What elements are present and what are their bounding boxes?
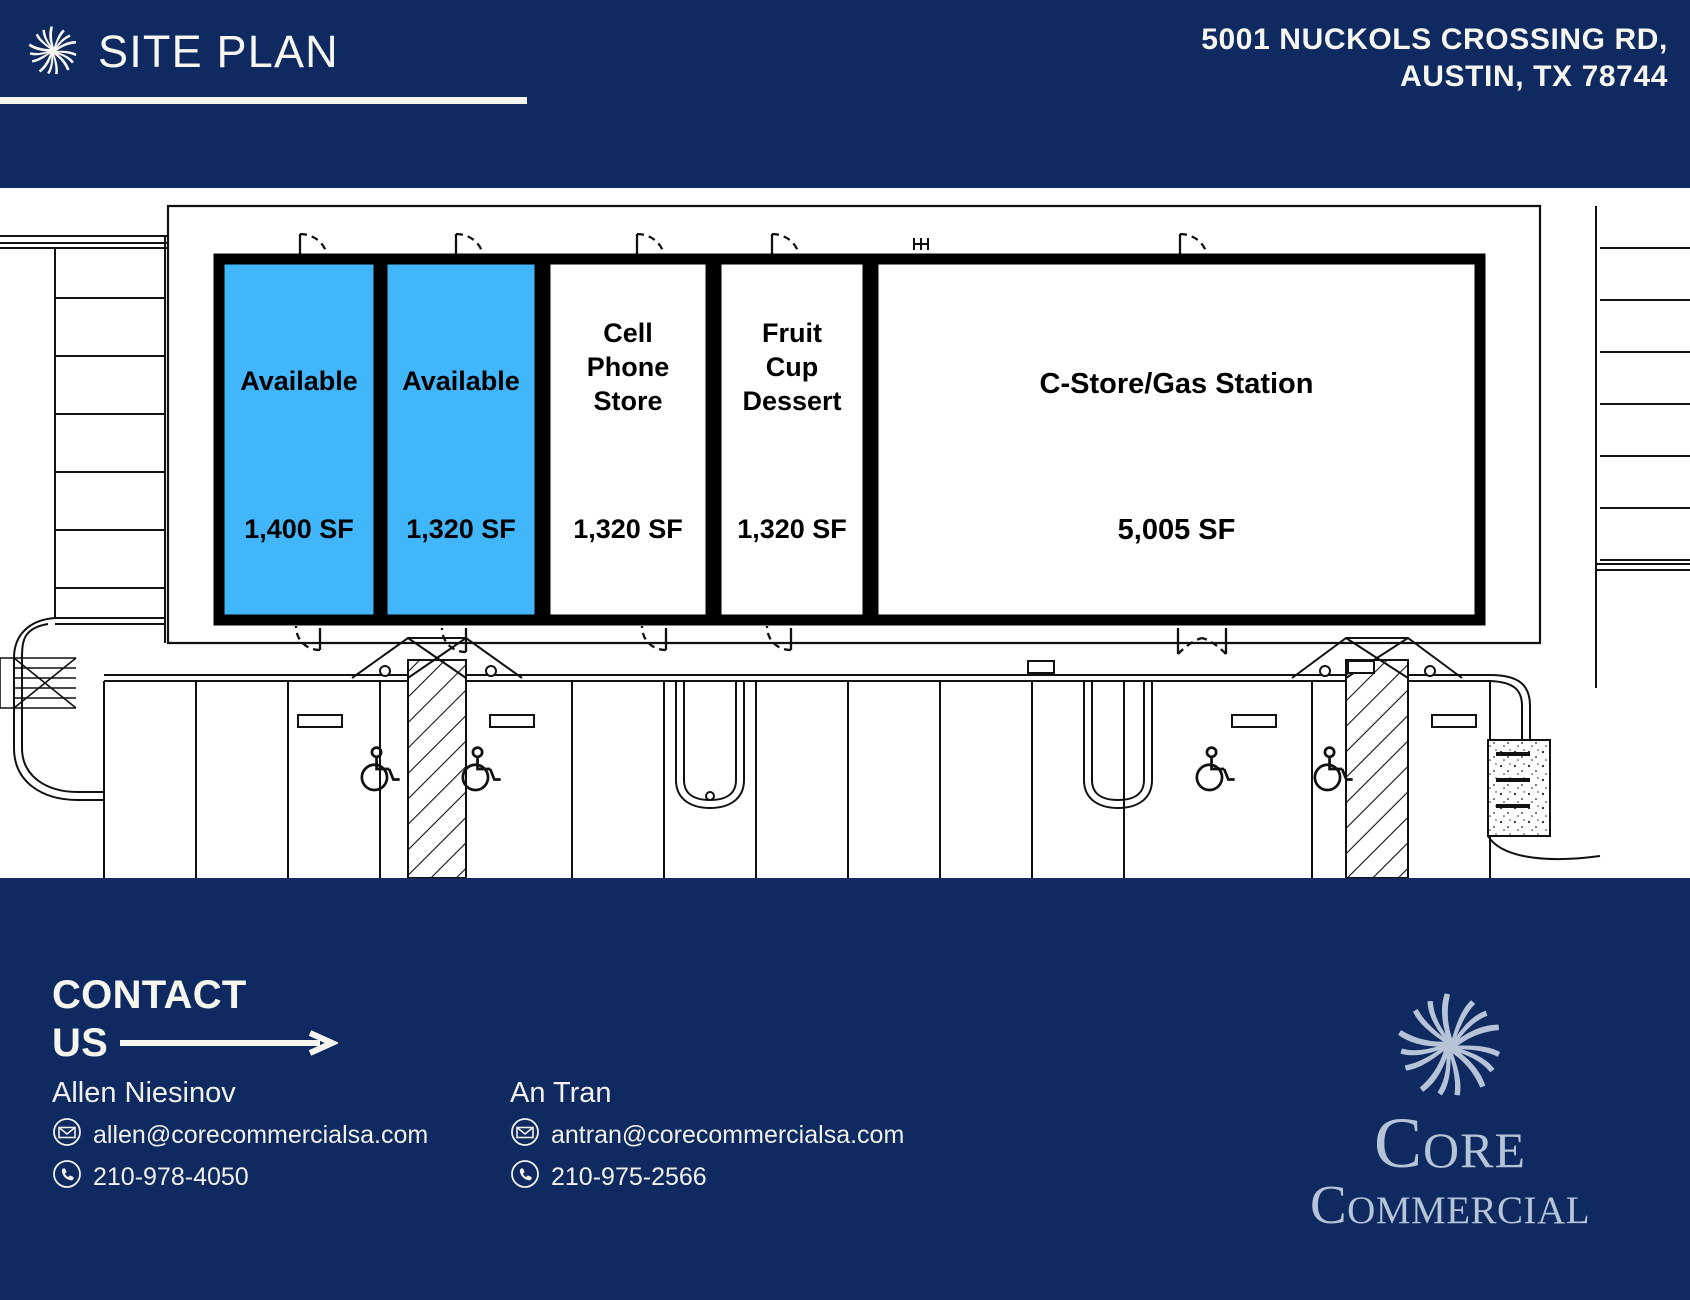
unit-rect-c-store-gas-station[interactable] — [873, 259, 1480, 620]
core-commercial-brand: Core Commercial — [1240, 980, 1660, 1232]
door-swing-arc — [642, 626, 666, 650]
door-swing-arc — [1178, 628, 1226, 654]
stall-marking — [298, 715, 342, 727]
gravel-pad — [1488, 740, 1600, 859]
sign-marking — [1348, 661, 1374, 673]
address-line-1: 5001 NUCKOLS CROSSING RD, — [1201, 22, 1668, 59]
header-underline — [0, 97, 527, 104]
header-brand: SITE PLAN — [22, 20, 339, 82]
right-arrow-icon — [120, 1023, 338, 1063]
tenant-units — [219, 259, 1480, 620]
contact-phone[interactable]: 210-975-2566 — [551, 1163, 707, 1192]
envelope-icon — [52, 1117, 82, 1154]
unit-sf-c-store-gas-station: 5,005 SF — [873, 516, 1480, 545]
door-swing-arc — [767, 626, 791, 650]
contact-phone-row[interactable]: 210-975-2566 — [510, 1159, 904, 1196]
brand-name-core: Core — [1240, 1110, 1660, 1178]
stall-marking — [1232, 715, 1276, 727]
door-swing-arc — [296, 626, 320, 650]
contact-card-2: An Tran antran@corecommercialsa.com 210-… — [510, 1078, 904, 1196]
page-header: SITE PLAN 5001 NUCKOLS CROSSING RD, AUST… — [0, 0, 1690, 188]
phone-icon — [52, 1159, 82, 1196]
contact-card-1: Allen Niesinov allen@corecommercialsa.co… — [52, 1078, 428, 1196]
brand-name-commercial: Commercial — [1240, 1178, 1660, 1232]
sign-marking — [1028, 661, 1054, 673]
wheelchair-symbol-icon — [1197, 748, 1235, 790]
wheelchair-symbol-icon — [463, 748, 501, 790]
stall-marking — [1432, 715, 1476, 727]
contact-phone[interactable]: 210-978-4050 — [93, 1163, 249, 1192]
site-plan-drawing: Available 1,400 SF Available 1,320 SF Ce… — [0, 188, 1690, 878]
contact-heading-line-1: CONTACT — [52, 975, 338, 1015]
envelope-icon — [510, 1117, 540, 1154]
stall-marking — [490, 715, 534, 727]
unit-sf-fruit-cup-dessert: 1,320 SF — [712, 516, 872, 543]
rear-door-swing-arcs — [296, 626, 1226, 654]
contact-name: An Tran — [510, 1078, 904, 1110]
unit-rect-available-1[interactable] — [219, 259, 379, 620]
address-line-2: AUSTIN, TX 78744 — [1201, 59, 1668, 96]
property-address: 5001 NUCKOLS CROSSING RD, AUSTIN, TX 787… — [1201, 22, 1668, 95]
unit-rect-fruit-cup-dessert[interactable] — [716, 259, 868, 620]
unit-sf-available-1: 1,400 SF — [219, 516, 379, 543]
landscape-islands — [676, 681, 1152, 808]
contact-name: Allen Niesinov — [52, 1078, 428, 1110]
contact-email-row[interactable]: allen@corecommercialsa.com — [52, 1117, 428, 1154]
contact-email-row[interactable]: antran@corecommercialsa.com — [510, 1117, 904, 1154]
phone-icon — [510, 1159, 540, 1196]
accessible-access-aisle — [408, 660, 466, 878]
unit-sf-cell-phone-store: 1,320 SF — [545, 516, 711, 543]
page-title: SITE PLAN — [98, 29, 339, 74]
contact-us-heading: CONTACT US — [52, 975, 338, 1063]
contact-email[interactable]: antran@corecommercialsa.com — [551, 1121, 904, 1150]
contact-email[interactable]: allen@corecommercialsa.com — [93, 1121, 428, 1150]
unit-sf-available-2: 1,320 SF — [382, 516, 540, 543]
unit-rect-available-2[interactable] — [382, 259, 540, 620]
contact-phone-row[interactable]: 210-978-4050 — [52, 1159, 428, 1196]
parking-row-front — [104, 681, 1490, 878]
unit-rect-cell-phone-store[interactable] — [545, 259, 711, 620]
core-pinwheel-logo-icon — [22, 20, 84, 82]
core-pinwheel-logo-icon — [1240, 980, 1660, 1112]
contact-heading-line-2: US — [52, 1023, 108, 1063]
accessible-access-aisle — [1346, 660, 1408, 878]
